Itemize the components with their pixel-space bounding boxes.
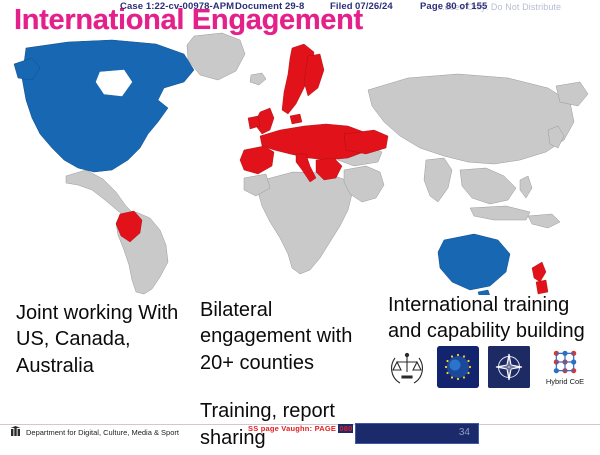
column-left: Joint working With US, Canada, Australia [16,300,201,379]
filed-label: Filed [330,1,353,12]
slide-canvas: Case 1:22-cv-00978-APM Document 29-8 Fil… [0,0,600,455]
column-right-text: International training and capability bu… [388,294,585,342]
exhibit-bates-stamp: SS page Vaughn: PAGE 080 [248,424,353,433]
page-of-total: Page 80 of 155 [420,1,487,12]
nato-emblem-icon [488,346,530,388]
footer-brand: Department for Digital, Culture, Media &… [10,426,179,438]
document-number: Document 29-8 [235,1,304,12]
case-number: Case 1:22-cv-00978-APM [120,1,234,12]
exhibit-stamp-text: Vaughn: PAGE [281,424,336,433]
exhibit-stamp-prefix: SS page [248,424,279,433]
world-map [8,30,592,295]
exhibit-stamp-number: 080 [338,424,353,433]
royal-crest-icon [10,426,21,438]
eu-emblem-icon [437,346,479,388]
world-map-svg [8,30,592,295]
footer-department-name: Department for Digital, Culture, Media &… [26,428,179,437]
column-left-text: Joint working With US, Canada, Australia [16,302,178,377]
hybrid-coe-emblem-icon: Hybrid CoE [539,345,591,389]
slide-page-number: 34 [459,427,470,438]
court-ecf-header: Case 1:22-cv-00978-APM Document 29-8 Fil… [0,1,600,15]
filed-date: 07/26/24 [355,1,393,12]
column-middle-text-1: Bilateral engagement with 20+ counties [200,297,380,376]
column-right: International training and capability bu… [388,292,598,345]
partner-logo-strip: Hybrid CoE [386,344,598,390]
hybrid-coe-label: Hybrid CoE [546,377,584,386]
un-emblem-icon [386,346,428,388]
